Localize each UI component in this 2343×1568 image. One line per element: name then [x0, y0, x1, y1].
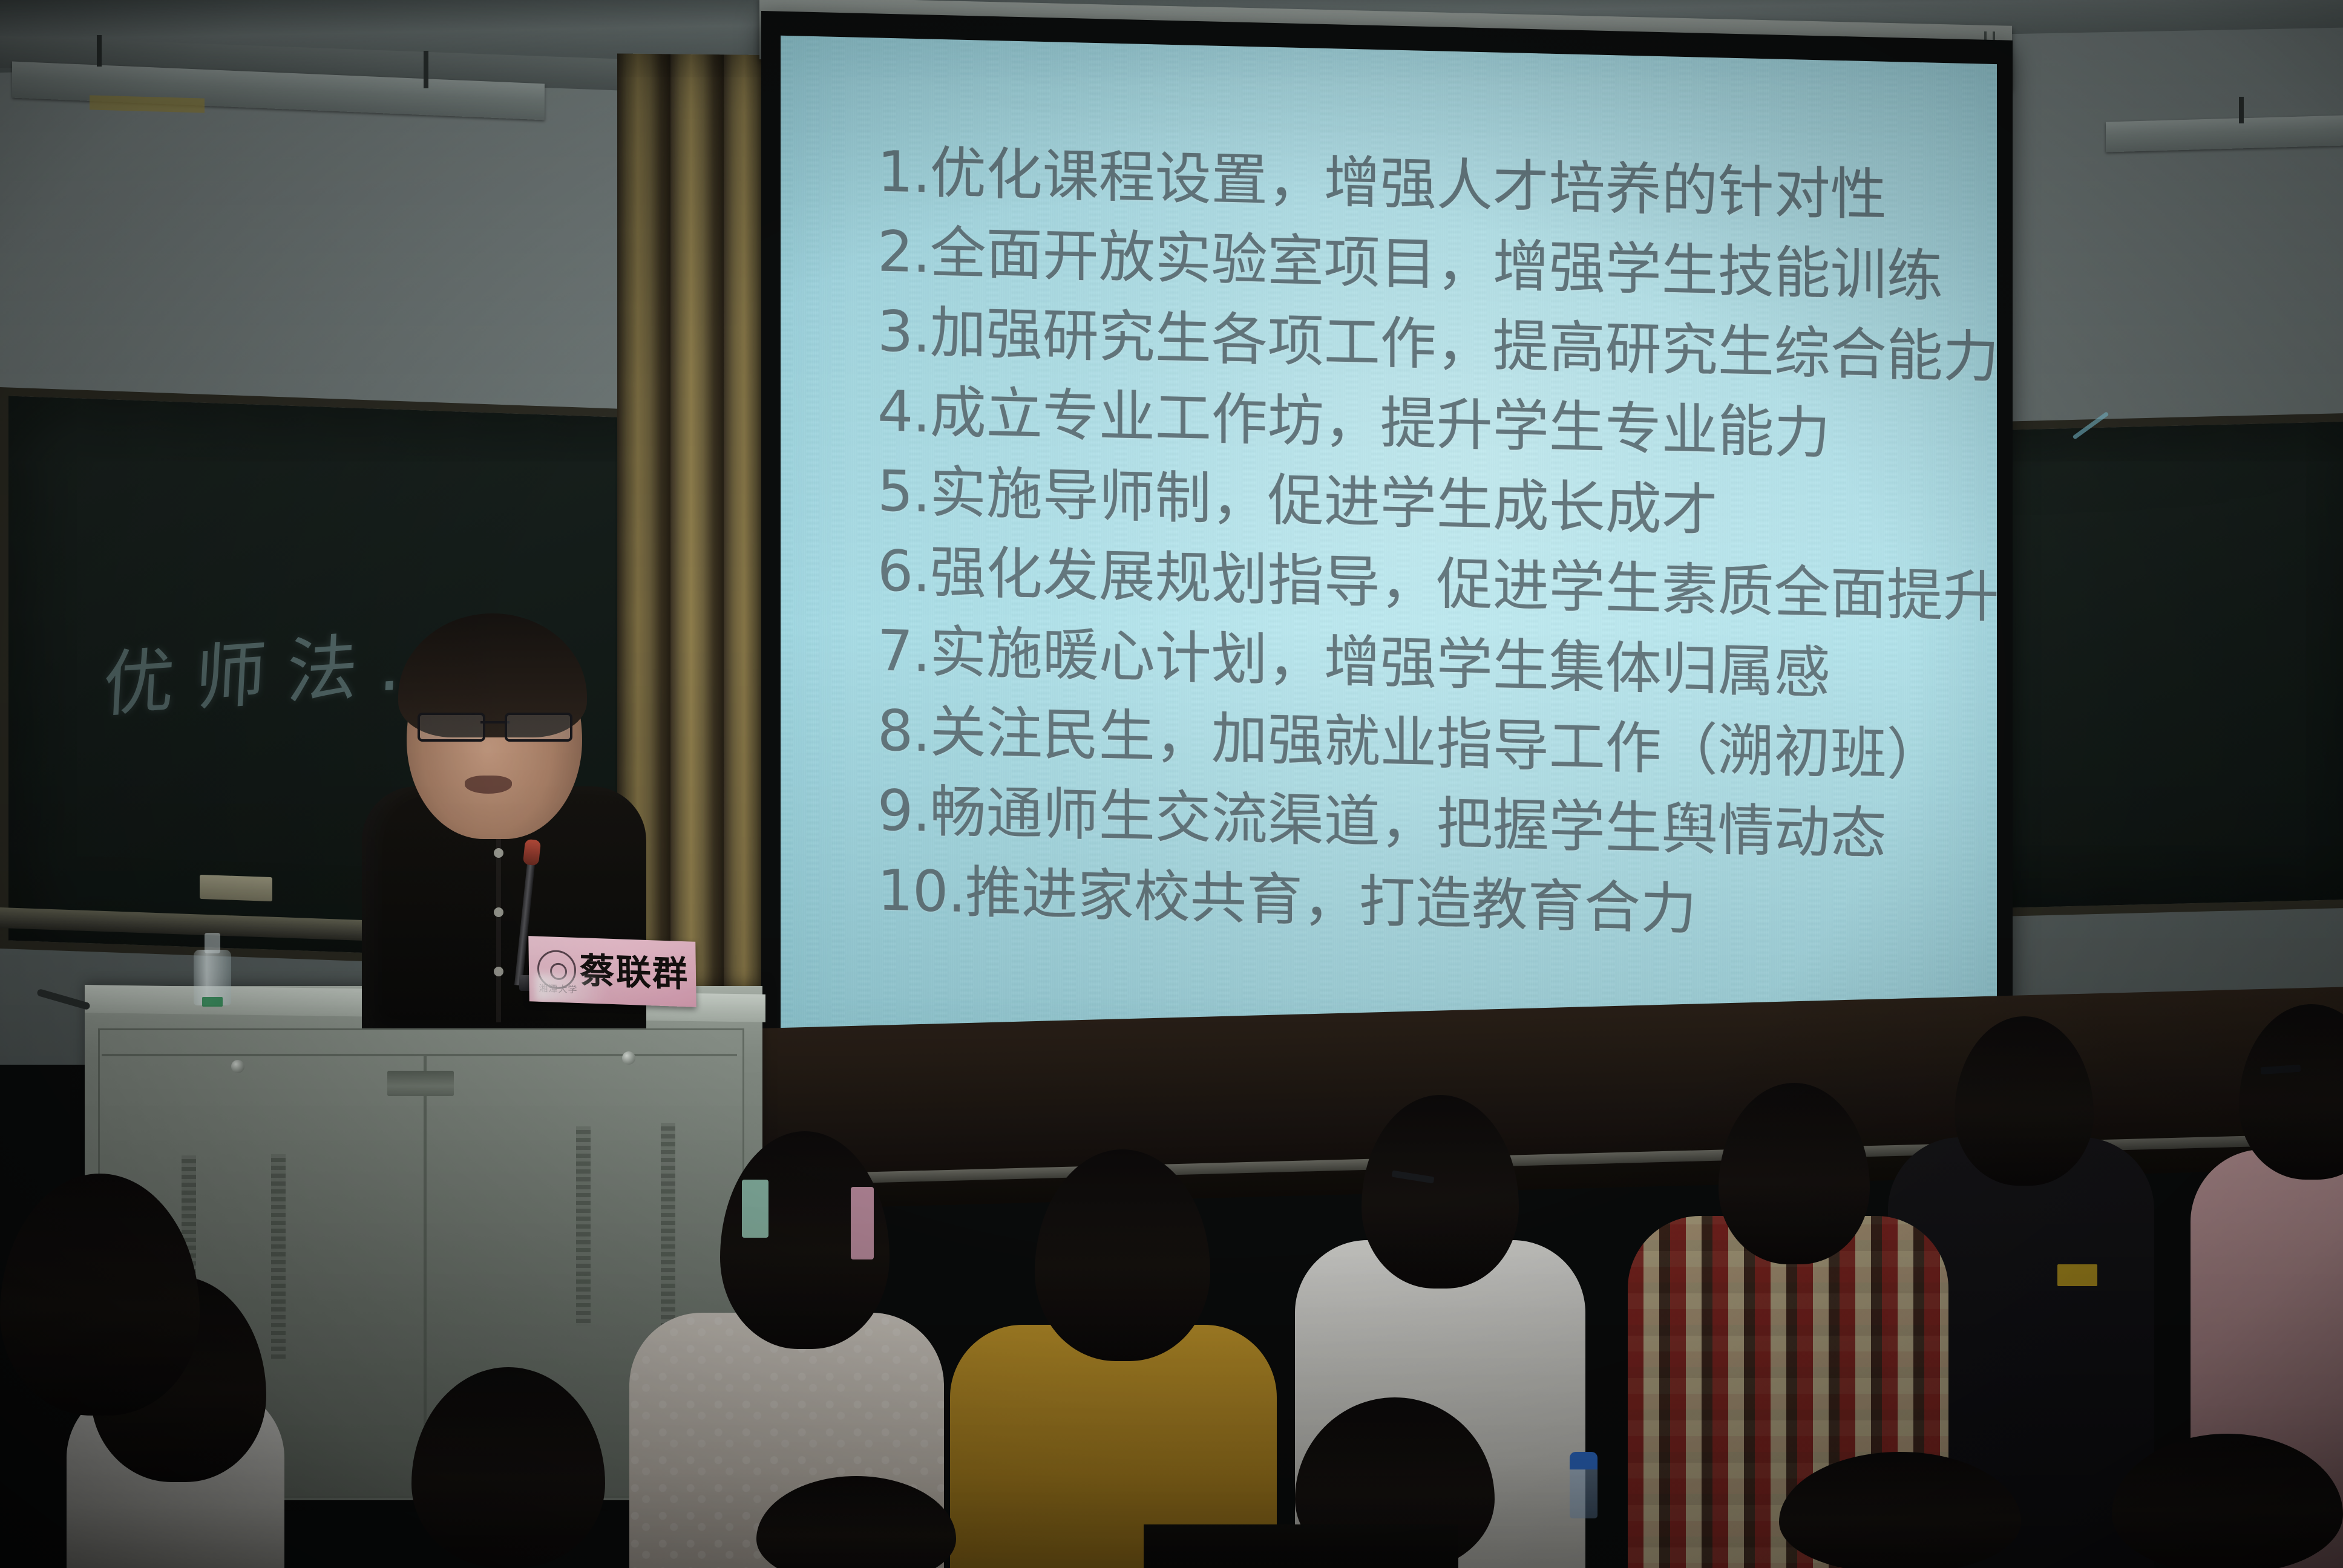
- desk-row-front: [1144, 1524, 1458, 1568]
- slide-line-2-number: 2.: [877, 219, 930, 286]
- microphone-head: [523, 839, 541, 866]
- shirt-button-2: [494, 907, 503, 917]
- shirt-button-1: [494, 848, 503, 858]
- slide-line-5-text: 实施导师制，促进学生成长成才: [930, 460, 1718, 544]
- water-bottle-cap: [202, 997, 223, 1007]
- slide-line-1-number: 1.: [877, 139, 930, 206]
- blackboard-eraser: [200, 875, 272, 901]
- slide-line-1-text: 优化课程设置，增强人才培养的针对性: [930, 140, 1887, 228]
- blue-water-bottle: [1570, 1452, 1597, 1518]
- slide-line-7-number: 7.: [877, 618, 930, 685]
- cabinet-seam-top: [102, 1054, 737, 1056]
- cabinet-vent-4: [661, 1123, 675, 1334]
- audience-front-2-hairband-pink: [851, 1187, 874, 1259]
- speaker-mouth: [465, 776, 512, 794]
- slide-line-8-number: 8.: [877, 698, 930, 765]
- slide-line-9-number: 9.: [877, 778, 930, 844]
- glasses-lens-right: [505, 713, 572, 742]
- slide-line-6-number: 6.: [877, 538, 930, 605]
- speaker-nameplate: 湘潭大学 蔡联群: [528, 936, 696, 1007]
- slide-line-10-number: 10.: [877, 858, 965, 925]
- slide-line-4-text: 成立专业工作坊，提升学生专业能力: [930, 380, 1830, 466]
- projection-screen-surface: 1.优化课程设置，增强人才培养的针对性2.全面开放实验室项目，增强学生技能训练3…: [781, 36, 1997, 1073]
- slide-line-3-number: 3.: [877, 299, 930, 365]
- shirt-button-3: [494, 967, 503, 976]
- cabinet-lock-left: [231, 1060, 244, 1073]
- slide-line-4-number: 4.: [877, 379, 930, 445]
- slide-line-7-text: 实施暖心计划，增强学生集体归属感: [930, 619, 1830, 706]
- cabinet-vent-3: [576, 1126, 591, 1326]
- light-hanger-rod-a: [424, 51, 428, 88]
- light-hanger-rod-c: [2239, 97, 2244, 123]
- nameplate-glare: [535, 974, 608, 1004]
- light-hanger-rod-b: [97, 35, 102, 67]
- lecture-hall-photo: 优师法…花 Redleaf 1.优化课程设置，增强人才培养的针对性2.全面开放实…: [0, 0, 2343, 1568]
- cabinet-vent-2: [271, 1154, 286, 1360]
- slide-content: 1.优化课程设置，增强人才培养的针对性2.全面开放实验室项目，增强学生技能训练3…: [877, 132, 1973, 956]
- cabinet-lock-right: [622, 1051, 635, 1065]
- audience-back-1-badge: [2057, 1264, 2097, 1286]
- slide-line-10-text: 推进家校共育，打造教育合力: [965, 860, 1697, 942]
- glasses-lens-left: [418, 713, 485, 742]
- slide-line-5-number: 5.: [877, 459, 930, 525]
- audience-front-2-hairband-green: [742, 1180, 768, 1238]
- cabinet-handle[interactable]: [387, 1071, 454, 1096]
- slide-line-9-text: 畅通师生交流渠道，把握学生舆情动态: [930, 779, 1887, 867]
- projection-screen: 1.优化课程设置，增强人才培养的针对性2.全面开放实验室项目，增强学生技能训练3…: [761, 11, 2013, 1084]
- speaker-glasses: [418, 713, 572, 737]
